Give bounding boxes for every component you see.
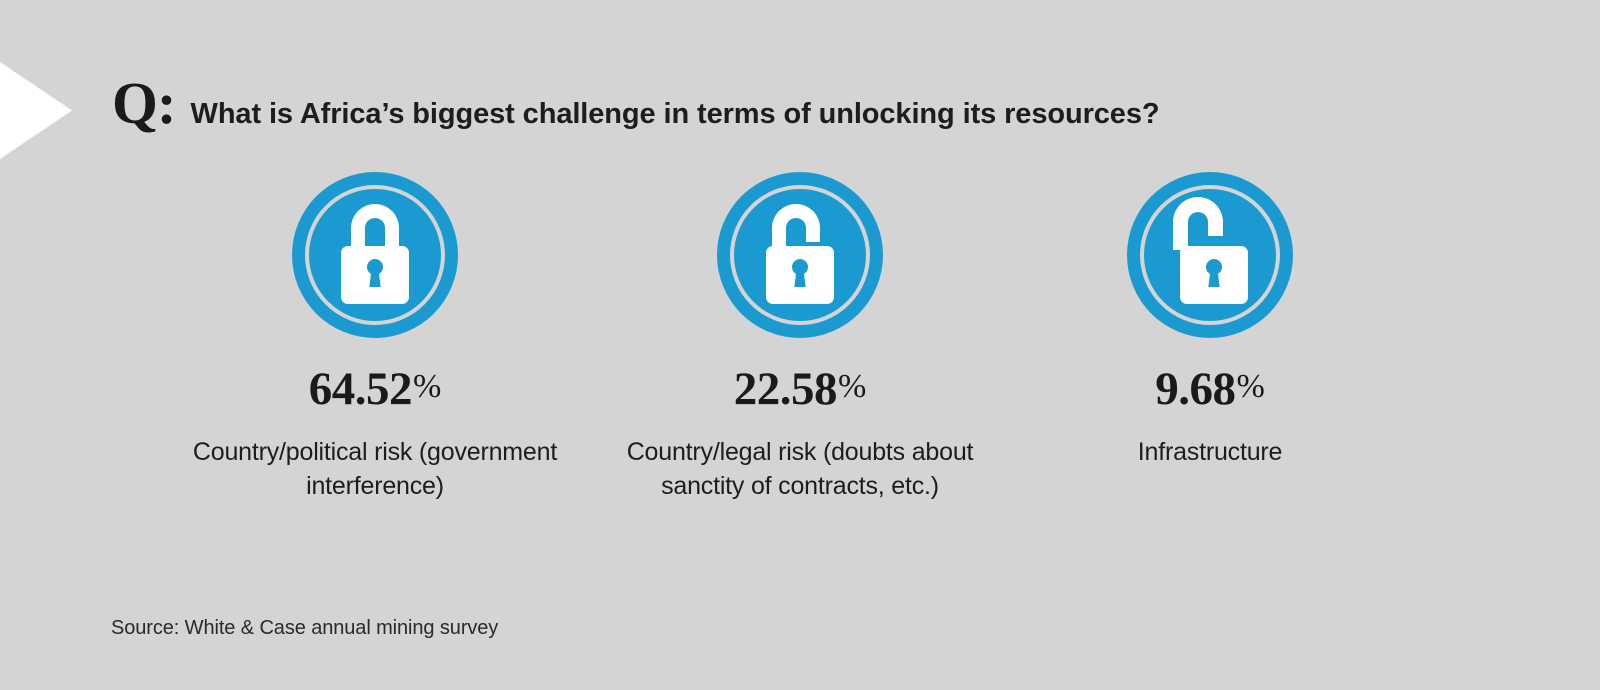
stat-caption: Country/legal risk (doubts about sanctit…	[590, 435, 1010, 504]
page-title: What is Africa’s biggest challenge in te…	[191, 98, 1160, 131]
stats-row: 64.52% Country/political risk (governmen…	[160, 172, 1410, 504]
stat-value-percent: %	[838, 368, 866, 405]
stat-value-number: 22.58	[734, 363, 837, 415]
stat-value-percent: %	[413, 368, 441, 405]
headline: Q: What is Africa’s biggest challenge in…	[112, 74, 1159, 133]
stat-item: 64.52% Country/political risk (governmen…	[160, 172, 590, 504]
stat-value: 64.52%	[309, 366, 442, 413]
padlock-closed-icon	[292, 172, 458, 338]
left-arrow-marker	[0, 62, 72, 159]
stat-value: 9.68%	[1155, 366, 1265, 413]
stat-value-number: 9.68	[1155, 363, 1235, 415]
stat-value-number: 64.52	[309, 363, 412, 415]
stat-value-percent: %	[1236, 368, 1264, 405]
padlock-open-icon	[1127, 172, 1293, 338]
stat-item: 9.68% Infrastructure	[1010, 172, 1410, 504]
source-note: Source: White & Case annual mining surve…	[111, 617, 498, 640]
padlock-ajar-icon	[717, 172, 883, 338]
stat-caption: Infrastructure	[1138, 435, 1282, 469]
question-mark-label: Q:	[112, 74, 176, 133]
stat-item: 22.58% Country/legal risk (doubts about …	[590, 172, 1010, 504]
stat-value: 22.58%	[734, 366, 867, 413]
stat-caption: Country/political risk (government inter…	[160, 435, 590, 504]
